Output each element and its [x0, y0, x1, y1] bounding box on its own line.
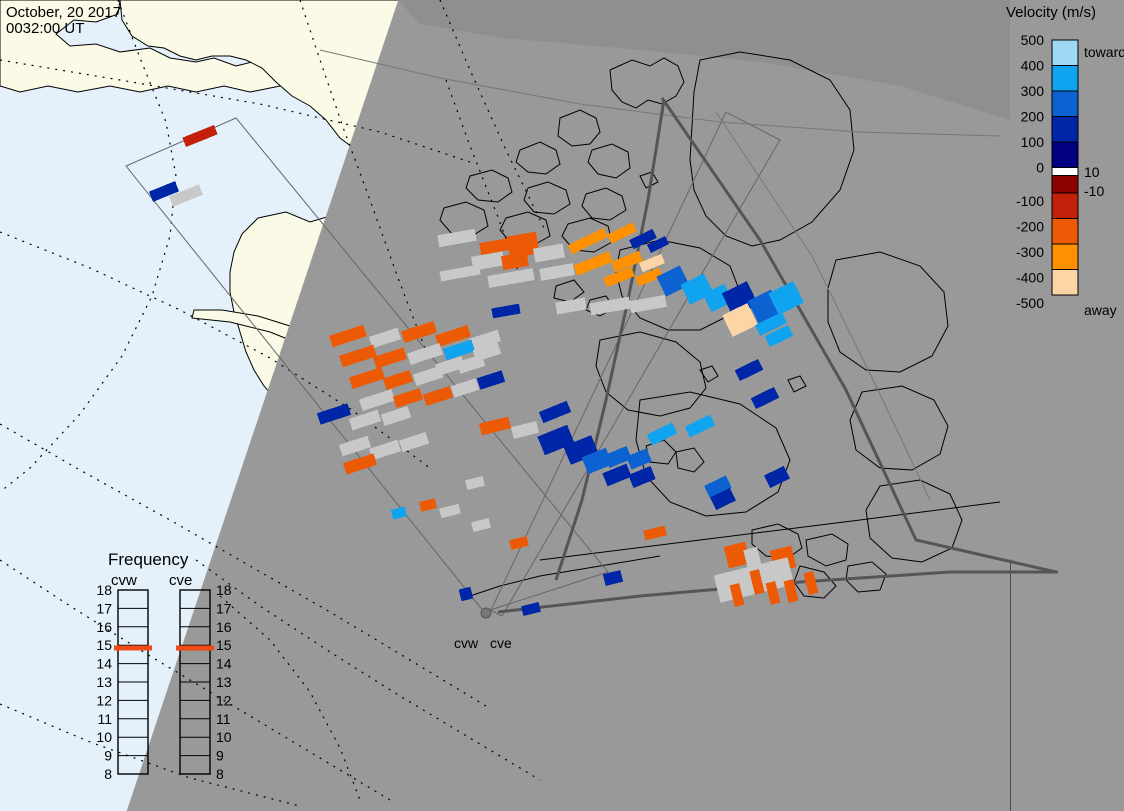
frequency-marker [176, 645, 214, 650]
colorbar-segment [1052, 244, 1078, 270]
colorbar-tick: 100 [1021, 134, 1045, 150]
colorbar-tick: -500 [1016, 295, 1044, 311]
radar-label-cvw: cvw [454, 635, 479, 651]
radar-map-canvas: cvw cve October, 20 2017 0032:00 UT Velo… [0, 0, 1124, 811]
colorbar-upper-threshold-label: 10 [1084, 164, 1100, 180]
frequency-tick-left: 8 [104, 766, 112, 782]
colorbar-tick: 0 [1036, 160, 1044, 176]
frequency-tick-left: 11 [97, 711, 112, 727]
colorbar-tick: -200 [1016, 219, 1044, 235]
frequency-tick-right: 18 [216, 582, 232, 598]
colorbar-segment [1052, 219, 1078, 245]
frequency-tick-right: 8 [216, 766, 224, 782]
frequency-tick-right: 11 [216, 711, 231, 727]
colorbar-segment [1052, 270, 1078, 296]
frequency-tick-right: 17 [216, 600, 232, 616]
frequency-tick-right: 14 [216, 656, 232, 672]
colorbar-title: Velocity (m/s) [1006, 4, 1096, 21]
colorbar-tick: 400 [1021, 58, 1045, 74]
colorbar-toward-label: toward [1084, 44, 1124, 60]
colorbar-neutral-band [1052, 168, 1078, 176]
frequency-tick-left: 15 [96, 637, 112, 653]
frequency-tick-right: 10 [216, 729, 232, 745]
frequency-tick-right: 15 [216, 637, 232, 653]
colorbar-tick: -400 [1016, 270, 1044, 286]
colorbar-tick: -300 [1016, 244, 1044, 260]
colorbar-segment [1052, 193, 1078, 219]
frequency-tick-left: 13 [96, 674, 112, 690]
colorbar-segment [1052, 91, 1078, 117]
frequency-tick-left: 9 [104, 748, 112, 764]
colorbar-segment [1052, 142, 1078, 168]
frequency-tick-left: 17 [96, 600, 112, 616]
colorbar-lower-threshold-label: -10 [1084, 183, 1104, 199]
colorbar-tick: 300 [1021, 83, 1045, 99]
frequency-radar-name-cvw: cvw [111, 572, 137, 589]
radar-site-marker [481, 608, 491, 618]
colorbar-swatches [1052, 40, 1078, 295]
radar-label-cve: cve [490, 635, 512, 651]
colorbar-segment [1052, 40, 1078, 66]
frequency-tick-left: 10 [96, 729, 112, 745]
colorbar-segment [1052, 117, 1078, 143]
frequency-tick-right: 12 [216, 692, 232, 708]
colorbar-tick: -100 [1016, 193, 1044, 209]
frequency-tick-right: 13 [216, 674, 232, 690]
frequency-tick-left: 18 [96, 582, 112, 598]
colorbar-tick: 500 [1021, 32, 1045, 48]
date-label: October, 20 2017 [6, 4, 121, 21]
time-label: 0032:00 UT [6, 20, 84, 37]
frequency-tick-left: 16 [96, 619, 112, 635]
frequency-tick-right: 16 [216, 619, 232, 635]
colorbar-segment [1052, 66, 1078, 92]
frequency-tick-right: 9 [216, 748, 224, 764]
frequency-tick-left: 12 [96, 692, 112, 708]
frequency-legend-title: Frequency [108, 550, 189, 569]
frequency-marker [114, 645, 152, 650]
frequency-radar-name-cve: cve [169, 572, 192, 589]
frequency-tick-left: 14 [96, 656, 112, 672]
map-figure: cvw cve October, 20 2017 0032:00 UT Velo… [0, 0, 1124, 811]
colorbar-tick: 200 [1021, 109, 1045, 125]
colorbar-away-label: away [1084, 302, 1117, 318]
